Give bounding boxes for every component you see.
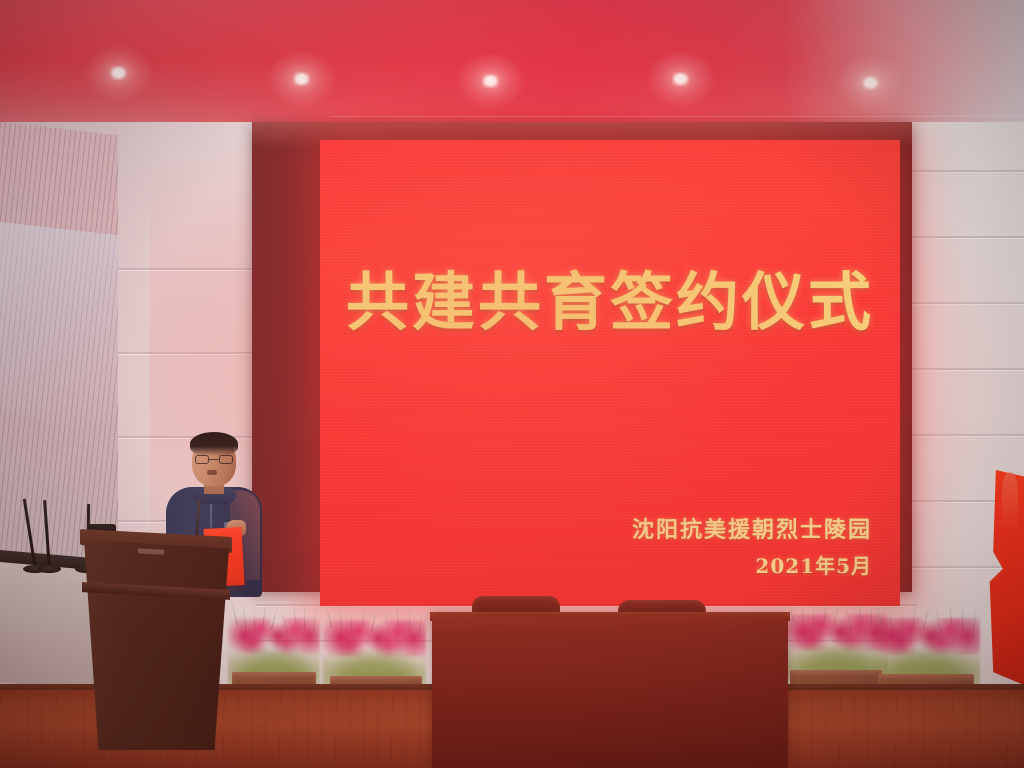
wall-seam-2 <box>912 236 1024 238</box>
downlight-2 <box>293 72 310 86</box>
wall-seam-8 <box>118 268 254 270</box>
eyeglasses-icon <box>195 455 233 464</box>
microphone-stand-base-2 <box>37 565 61 573</box>
downlight-3 <box>482 74 499 88</box>
signing-table <box>432 616 788 768</box>
speaker-hair <box>190 432 238 456</box>
downlight-4 <box>672 72 689 86</box>
wall-light-glare <box>0 222 118 425</box>
led-screen[interactable]: 共建共育签约仪式 沈阳抗美援朝烈士陵园 2021年5月 <box>320 140 900 606</box>
ceiling-seam-1 <box>330 116 1024 117</box>
screen-title-text: 共建共育签约仪式 <box>320 252 900 343</box>
wall-seam-3 <box>912 302 1024 304</box>
podium <box>84 540 229 750</box>
glasses-right-lens <box>219 455 233 464</box>
screen-organization-text: 沈阳抗美援朝烈士陵园 <box>292 512 872 544</box>
wall-seam-4 <box>912 368 1024 370</box>
speaker-mouth <box>207 470 217 475</box>
glasses-bridge <box>209 459 219 460</box>
glasses-left-lens <box>195 455 209 464</box>
auditorium-scene: 共建共育签约仪式 沈阳抗美援朝烈士陵园 2021年5月 <box>0 0 1024 768</box>
led-screen-frame: 共建共育签约仪式 沈阳抗美援朝烈士陵园 2021年5月 <box>252 122 912 592</box>
downlight-5 <box>862 76 879 90</box>
banner-fold-highlight <box>1002 472 1018 532</box>
screen-date-text: 2021年5月 <box>292 550 872 579</box>
downlight-1 <box>110 66 127 80</box>
wall-seam-1 <box>912 170 1024 172</box>
wall-seam-5 <box>912 434 1024 436</box>
wall-seam-9 <box>118 352 254 354</box>
